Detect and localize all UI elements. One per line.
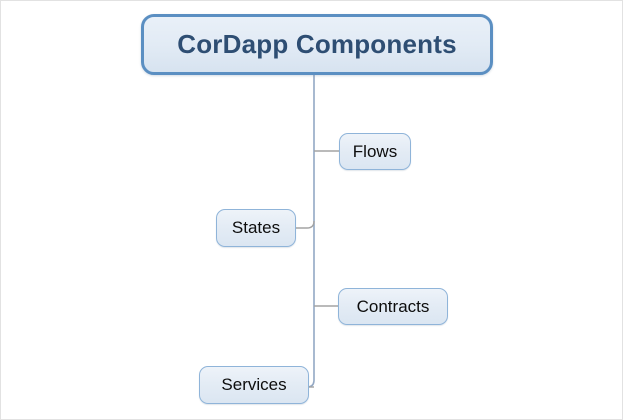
connector-trunk <box>307 75 314 387</box>
node-label-flows: Flows <box>353 142 397 162</box>
diagram-canvas: CorDapp Components Flows States Contract… <box>0 0 623 420</box>
node-label-services: Services <box>221 375 286 395</box>
node-flows[interactable]: Flows <box>339 133 411 170</box>
node-label-root: CorDapp Components <box>177 29 456 60</box>
node-label-states: States <box>232 218 280 238</box>
node-cordapp-components[interactable]: CorDapp Components <box>141 14 493 75</box>
connector-states <box>296 221 314 228</box>
node-contracts[interactable]: Contracts <box>338 288 448 325</box>
node-label-contracts: Contracts <box>357 297 430 317</box>
node-services[interactable]: Services <box>199 366 309 404</box>
node-states[interactable]: States <box>216 209 296 247</box>
